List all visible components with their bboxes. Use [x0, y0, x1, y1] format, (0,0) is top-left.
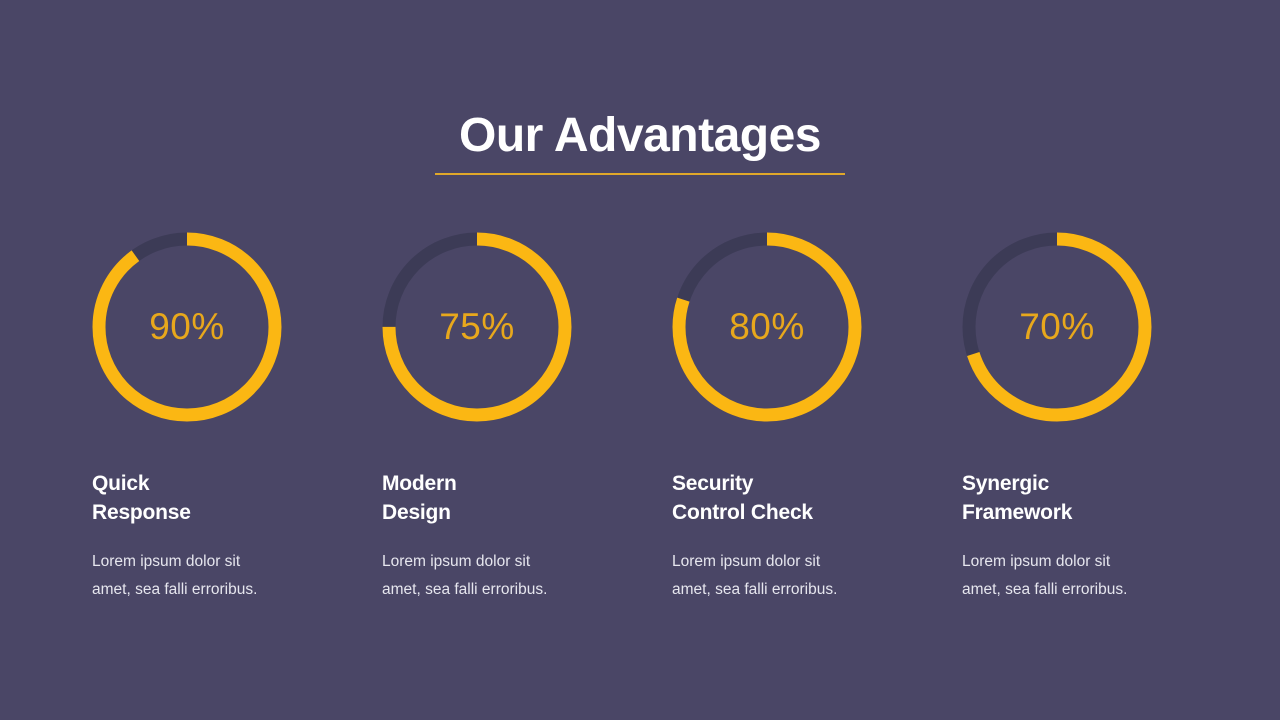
percent-label: 90% [92, 232, 282, 422]
card-text: Security Control Check Lorem ipsum dolor… [672, 470, 962, 604]
page-title: Our Advantages [455, 108, 825, 173]
card-text: Quick Response Lorem ipsum dolor sit ame… [92, 470, 382, 604]
card-heading: Modern Design [382, 470, 652, 528]
donut-chart-80: 80% [672, 232, 862, 422]
advantage-card-synergic-framework: 70% Synergic Framework Lorem ipsum dolor… [962, 232, 1252, 604]
card-body: Lorem ipsum dolor sit amet, sea falli er… [962, 548, 1232, 604]
advantages-row: 90% Quick Response Lorem ipsum dolor sit… [92, 232, 1192, 604]
percent-label: 70% [962, 232, 1152, 422]
donut-chart-75: 75% [382, 232, 572, 422]
title-block: Our Advantages [0, 108, 1280, 175]
card-body: Lorem ipsum dolor sit amet, sea falli er… [92, 548, 362, 604]
donut-chart-90: 90% [92, 232, 282, 422]
card-text: Synergic Framework Lorem ipsum dolor sit… [962, 470, 1252, 604]
card-heading: Quick Response [92, 470, 362, 528]
card-heading: Security Control Check [672, 470, 942, 528]
card-body: Lorem ipsum dolor sit amet, sea falli er… [672, 548, 942, 604]
donut-chart-70: 70% [962, 232, 1152, 422]
card-heading: Synergic Framework [962, 470, 1232, 528]
percent-label: 80% [672, 232, 862, 422]
advantage-card-security-control-check: 80% Security Control Check Lorem ipsum d… [672, 232, 962, 604]
card-body: Lorem ipsum dolor sit amet, sea falli er… [382, 548, 652, 604]
advantage-card-quick-response: 90% Quick Response Lorem ipsum dolor sit… [92, 232, 382, 604]
percent-label: 75% [382, 232, 572, 422]
advantage-card-modern-design: 75% Modern Design Lorem ipsum dolor sit … [382, 232, 672, 604]
card-text: Modern Design Lorem ipsum dolor sit amet… [382, 470, 672, 604]
title-underline [435, 173, 845, 175]
slide-canvas: Our Advantages 90% Quick Response Lorem … [0, 0, 1280, 720]
